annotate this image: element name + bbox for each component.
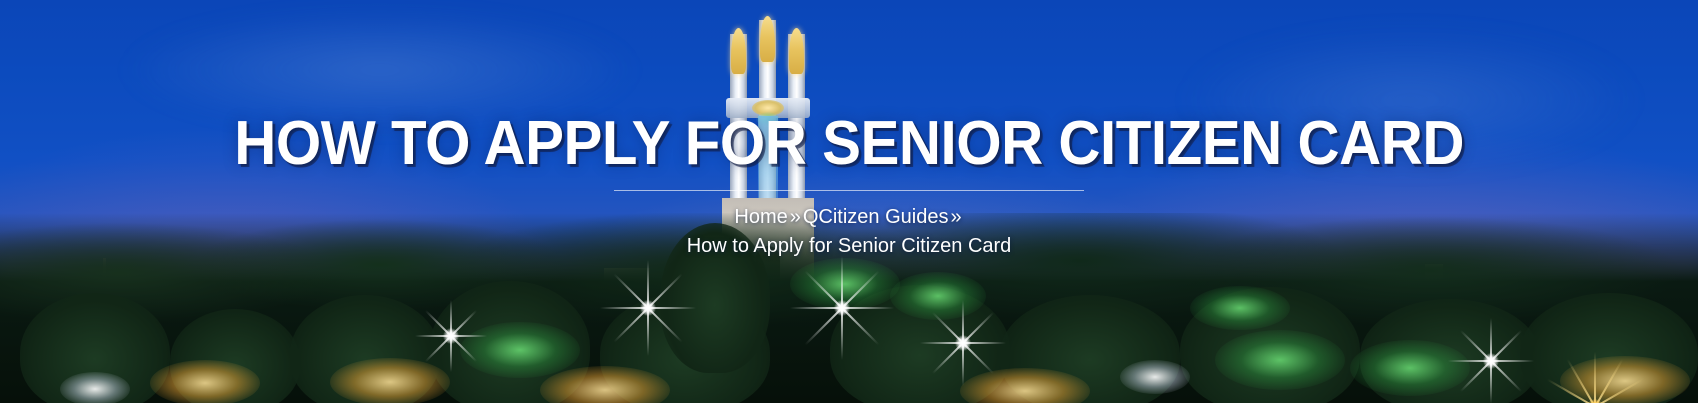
breadcrumb: Home»QCitizen Guides» How to Apply for S… <box>687 203 1012 261</box>
hero-content: HOW TO APPLY FOR SENIOR CITIZEN CARD Hom… <box>0 0 1698 403</box>
page-title: HOW TO APPLY FOR SENIOR CITIZEN CARD <box>234 112 1464 176</box>
breadcrumb-separator: » <box>948 206 963 228</box>
hero-banner: HOW TO APPLY FOR SENIOR CITIZEN CARD Hom… <box>0 0 1698 403</box>
breadcrumb-item-current: How to Apply for Senior Citizen Card <box>687 232 1012 261</box>
breadcrumb-item-home[interactable]: Home <box>734 206 787 228</box>
breadcrumb-item-qcitizen-guides[interactable]: QCitizen Guides <box>803 206 949 228</box>
title-divider <box>614 190 1084 191</box>
breadcrumb-separator: » <box>788 206 803 228</box>
